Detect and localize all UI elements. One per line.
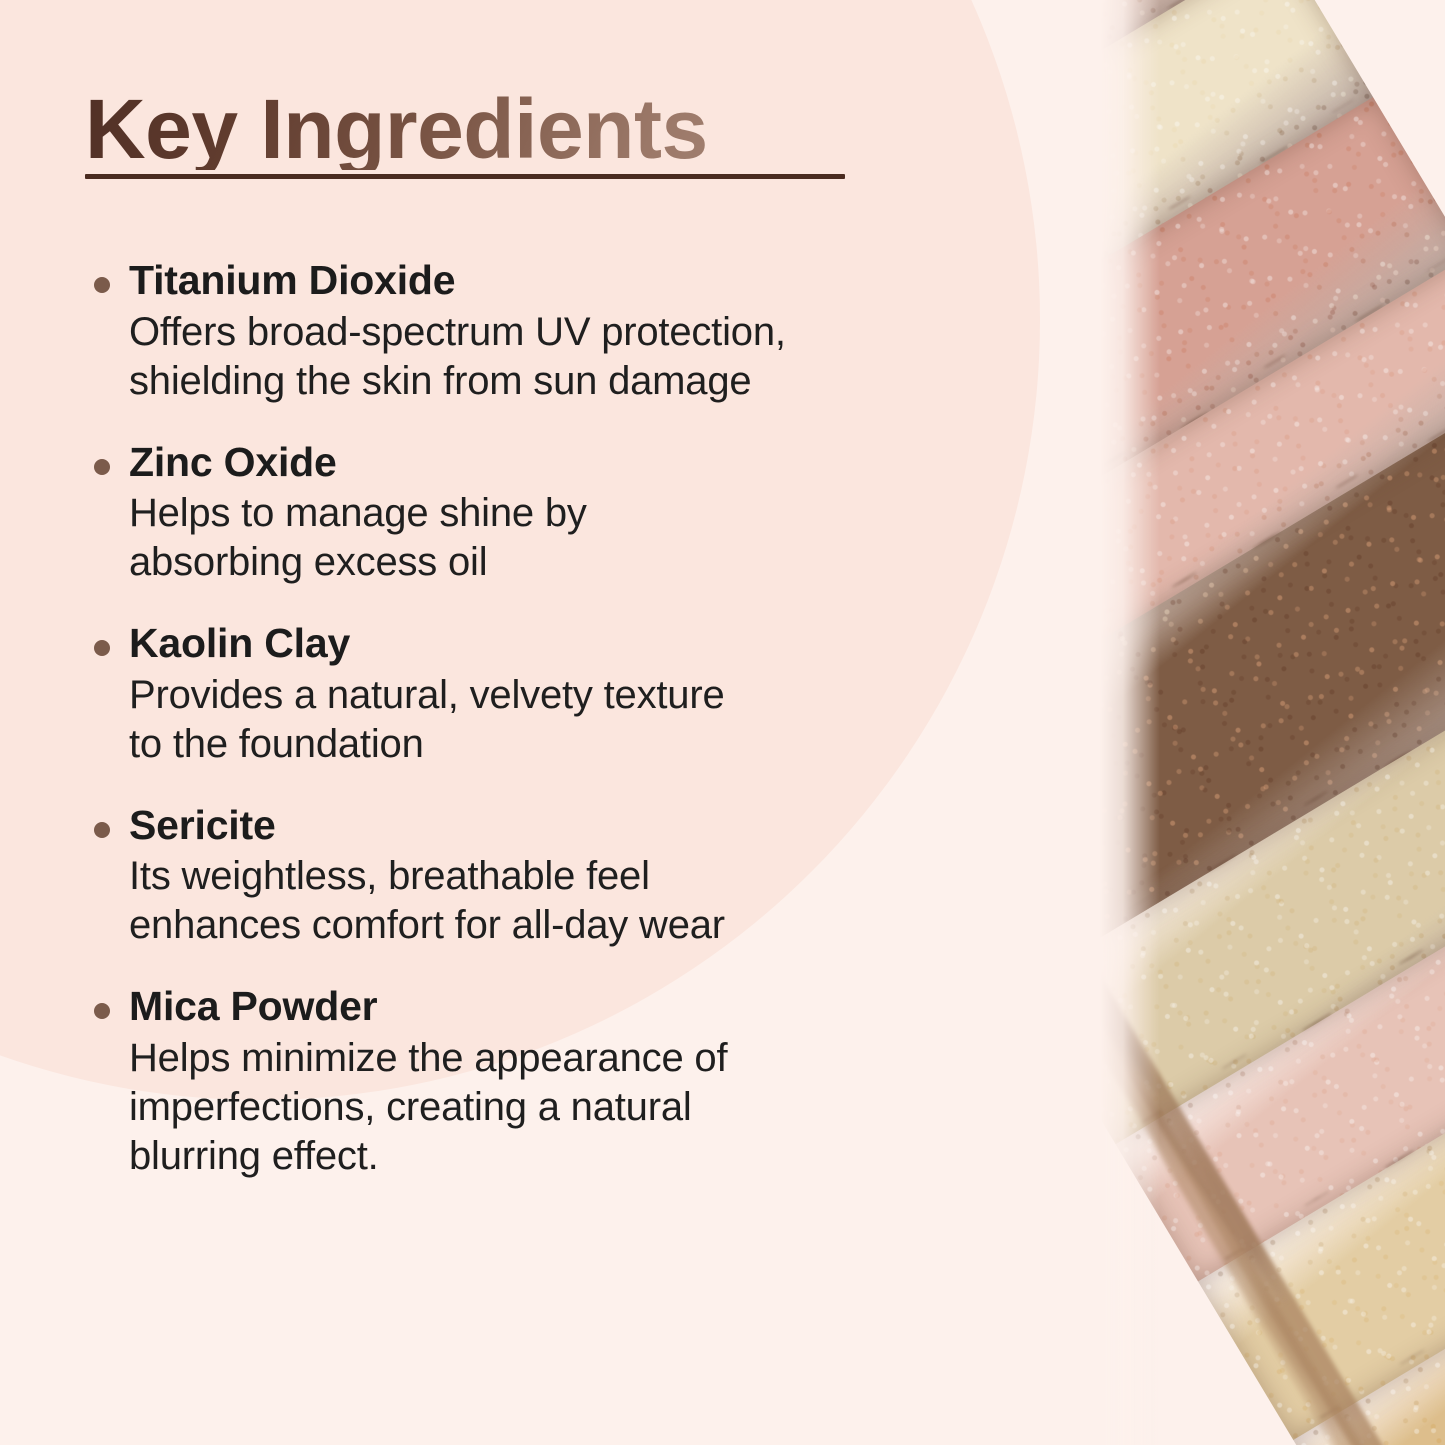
ingredient-list: Titanium DioxideOffers broad-spectrum UV… — [88, 258, 988, 1180]
key-ingredients-page: Key Ingredients Titanium DioxideOffers b… — [0, 0, 1445, 1445]
bullet-dot-icon — [94, 459, 110, 475]
ingredient-name: Titanium Dioxide — [129, 258, 988, 304]
page-title: Key Ingredients — [85, 88, 865, 170]
ingredient-description: Helps minimize the appearance of imperfe… — [129, 1034, 988, 1180]
ingredient-name: Kaolin Clay — [129, 621, 988, 667]
powder-photo-panel — [1100, 0, 1445, 1445]
bullet-dot-icon — [94, 277, 110, 293]
ingredient-description: Helps to manage shine by absorbing exces… — [129, 489, 988, 587]
bullet-dot-icon — [94, 822, 110, 838]
content-column: Key Ingredients Titanium DioxideOffers b… — [0, 0, 1100, 1445]
bullet-dot-icon — [94, 1003, 110, 1019]
ingredient-description: Provides a natural, velvety texture to t… — [129, 671, 988, 769]
ingredient-name: Zinc Oxide — [129, 440, 988, 486]
ingredient-item: SericiteIts weightless, breathable feel … — [88, 803, 988, 951]
ingredient-item: Kaolin ClayProvides a natural, velvety t… — [88, 621, 988, 769]
ingredient-name: Mica Powder — [129, 984, 988, 1030]
ingredient-item: Titanium DioxideOffers broad-spectrum UV… — [88, 258, 988, 406]
ingredient-item: Mica PowderHelps minimize the appearance… — [88, 984, 988, 1180]
ingredient-description: Its weightless, breathable feel enhances… — [129, 852, 988, 950]
ingredient-item: Zinc OxideHelps to manage shine by absor… — [88, 440, 988, 588]
page-title-block: Key Ingredients — [85, 88, 865, 179]
bullet-dot-icon — [94, 640, 110, 656]
ingredient-description: Offers broad-spectrum UV protection, shi… — [129, 308, 988, 406]
powder-swatch-stack — [1100, 0, 1445, 1445]
ingredient-name: Sericite — [129, 803, 988, 849]
